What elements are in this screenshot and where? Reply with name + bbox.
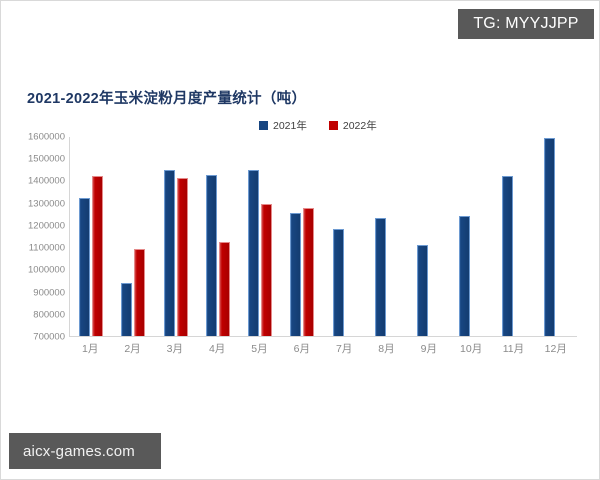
x-axis-tick-label: 4月 (196, 341, 238, 356)
site-watermark: aicx-games.com (9, 433, 161, 469)
bar-2022年-3月[interactable] (177, 178, 188, 336)
bar-2021年-9月[interactable] (417, 245, 428, 336)
bar-2021年-5月[interactable] (248, 170, 259, 336)
y-axis-tick-label: 1300000 (28, 198, 65, 209)
bar-group (535, 137, 577, 336)
bar-group (239, 137, 281, 336)
y-axis-tick-label: 700000 (33, 332, 65, 343)
y-axis-tick-label: 1000000 (28, 265, 65, 276)
bar-2021年-10月[interactable] (459, 216, 470, 336)
bar-2021年-1月[interactable] (79, 198, 90, 336)
bar-groups (70, 137, 577, 336)
y-axis-labels: 1600000150000014000001300000120000011000… (11, 137, 65, 337)
bar-2021年-6月[interactable] (290, 213, 301, 336)
x-axis-tick-label: 9月 (408, 341, 450, 356)
bar-2022年-5月[interactable] (261, 204, 272, 336)
legend-swatch-icon (329, 121, 338, 130)
bar-group (408, 137, 450, 336)
bar-2022年-4月[interactable] (219, 242, 230, 336)
bar-2022年-2月[interactable] (134, 249, 145, 336)
y-axis-tick-label: 1400000 (28, 176, 65, 187)
site-watermark-label: aicx-games.com (23, 443, 135, 460)
x-axis-tick-label: 3月 (154, 341, 196, 356)
bar-group (366, 137, 408, 336)
plot-area (69, 137, 577, 337)
bar-2022年-6月[interactable] (303, 208, 314, 336)
plot-wrapper (69, 137, 577, 337)
x-axis-tick-label: 5月 (238, 341, 280, 356)
bar-2021年-12月[interactable] (544, 138, 555, 336)
bar-group (324, 137, 366, 336)
x-axis-tick-label: 2月 (111, 341, 153, 356)
bar-group (281, 137, 323, 336)
y-axis-tick-label: 1500000 (28, 154, 65, 165)
bar-group (155, 137, 197, 336)
bar-group (450, 137, 492, 336)
page-title: 2021-2022年玉米淀粉月度产量统计（吨） (27, 87, 306, 108)
y-axis-tick-label: 900000 (33, 287, 65, 298)
bar-group (493, 137, 535, 336)
bar-2021年-2月[interactable] (121, 283, 132, 336)
x-axis-tick-label: 7月 (323, 341, 365, 356)
chart-legend: 2021年2022年 (259, 118, 377, 133)
x-axis-tick-label: 8月 (365, 341, 407, 356)
legend-item-2021年[interactable]: 2021年 (259, 118, 307, 133)
bar-2021年-4月[interactable] (206, 175, 217, 336)
x-axis-labels: 1月2月3月4月5月6月7月8月9月10月11月12月 (69, 341, 577, 356)
x-axis-tick-label: 12月 (535, 341, 577, 356)
bar-2021年-11月[interactable] (502, 176, 513, 336)
legend-label: 2022年 (343, 118, 377, 133)
bar-group (197, 137, 239, 336)
y-axis-tick-label: 1200000 (28, 220, 65, 231)
bar-2021年-7月[interactable] (333, 229, 344, 336)
x-axis-tick-label: 10月 (450, 341, 492, 356)
tg-badge: TG: MYYJJPP (458, 9, 594, 39)
bar-2021年-8月[interactable] (375, 218, 386, 336)
tg-badge-label: TG: MYYJJPP (473, 15, 578, 33)
legend-item-2022年[interactable]: 2022年 (329, 118, 377, 133)
bar-group (70, 137, 112, 336)
legend-label: 2021年 (273, 118, 307, 133)
x-axis-tick-label: 1月 (69, 341, 111, 356)
bar-2022年-1月[interactable] (92, 176, 103, 336)
bar-2021年-3月[interactable] (164, 170, 175, 336)
y-axis-tick-label: 800000 (33, 309, 65, 320)
bar-group (112, 137, 154, 336)
y-axis-tick-label: 1600000 (28, 132, 65, 143)
legend-swatch-icon (259, 121, 268, 130)
chart-page: TG: MYYJJPP 2021-2022年玉米淀粉月度产量统计（吨） 2021… (0, 0, 600, 480)
x-axis-tick-label: 6月 (281, 341, 323, 356)
y-axis-tick-label: 1100000 (29, 243, 65, 254)
x-axis-tick-label: 11月 (492, 341, 534, 356)
